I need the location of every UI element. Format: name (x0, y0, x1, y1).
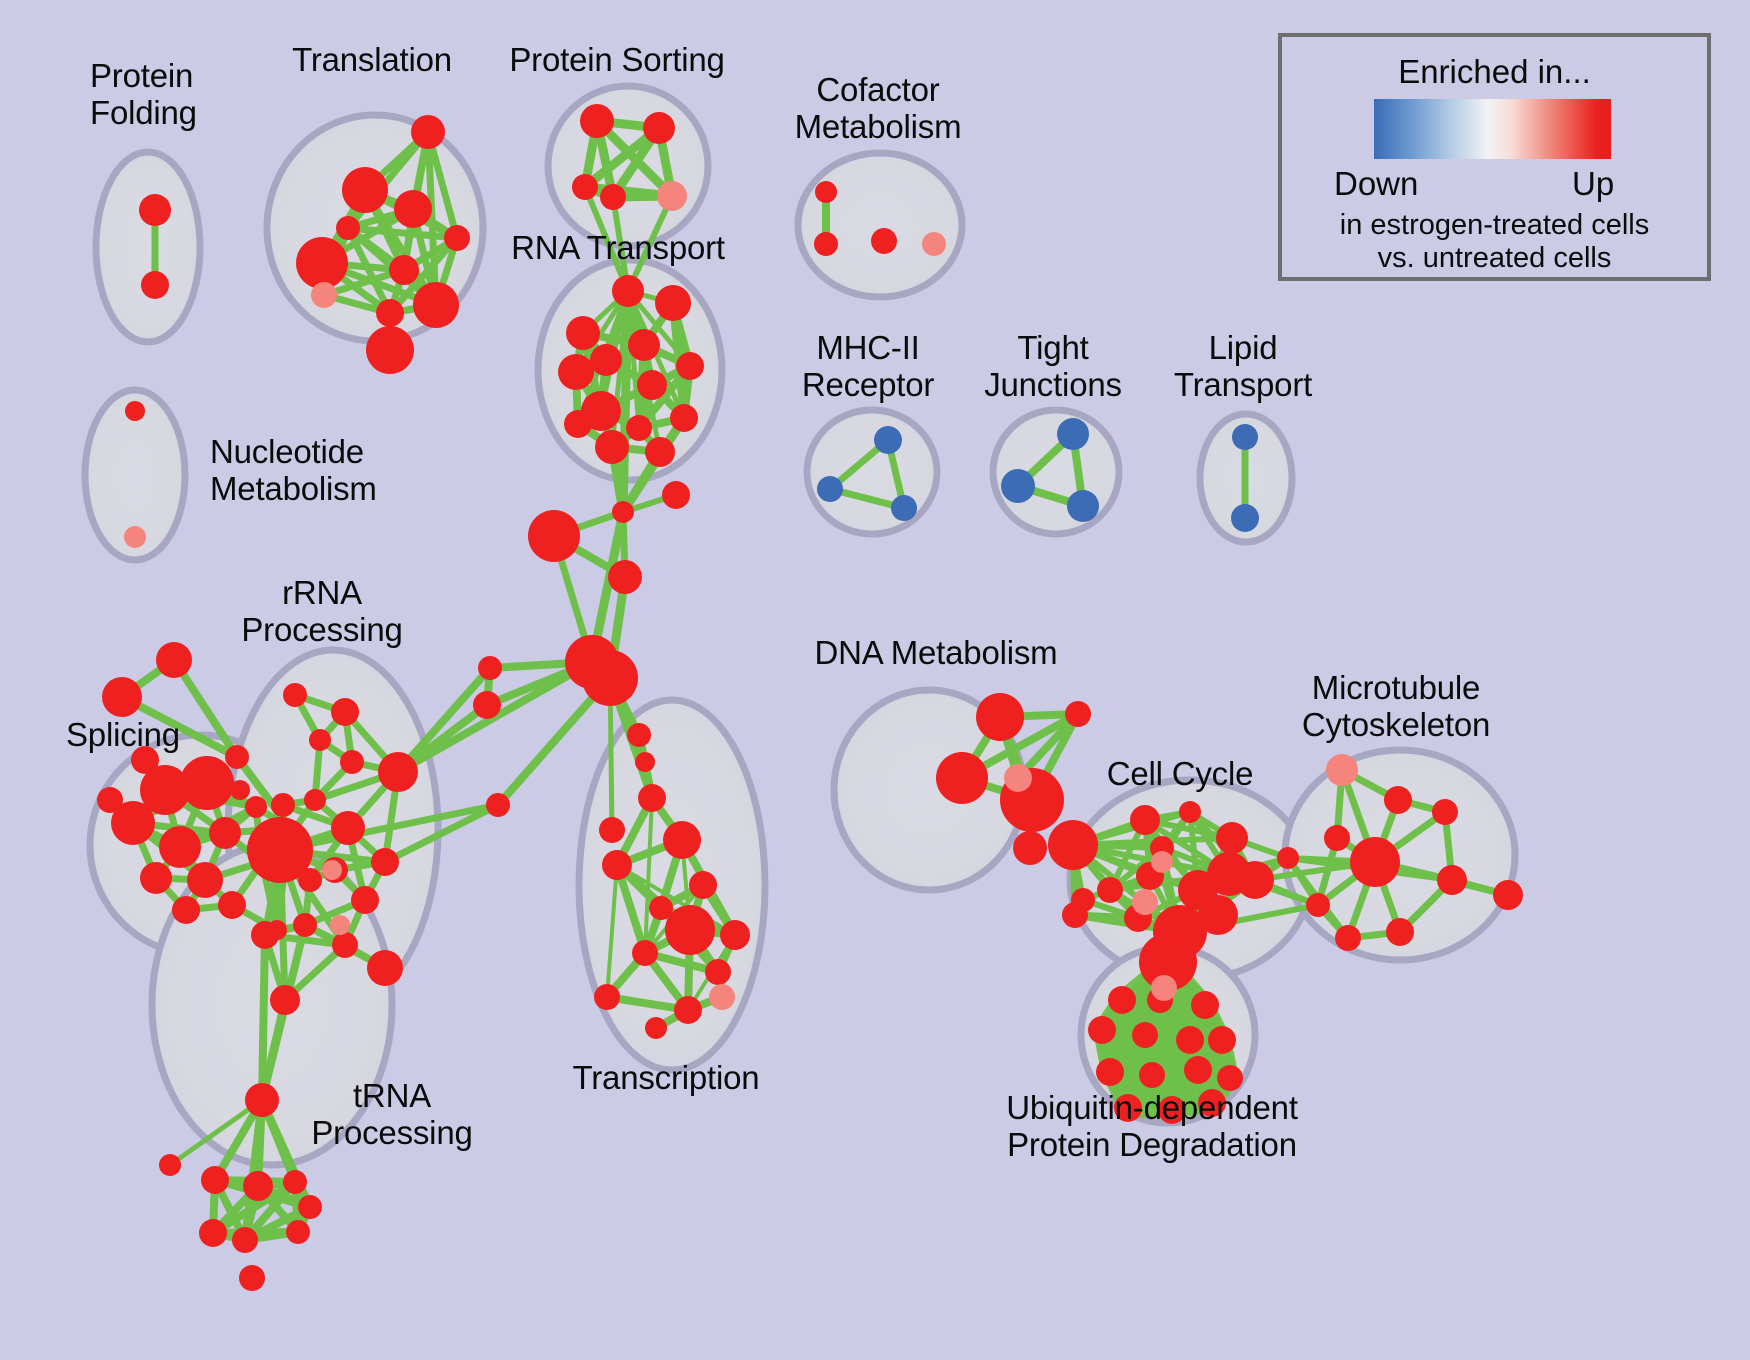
node (1097, 877, 1123, 903)
node (709, 984, 735, 1010)
legend-title: Enriched in... (1282, 53, 1707, 91)
node (340, 750, 364, 774)
node (371, 848, 399, 876)
cluster-label-protein-sorting: Protein Sorting (509, 42, 724, 79)
cluster-label-mhc-ii-receptor: MHC-II Receptor (802, 330, 934, 404)
node (478, 656, 502, 680)
node (674, 996, 702, 1024)
node (936, 752, 988, 804)
node (566, 316, 600, 350)
node (635, 752, 655, 772)
node (201, 1166, 229, 1194)
node (209, 817, 241, 849)
node (367, 950, 403, 986)
node (1067, 490, 1099, 522)
node (102, 677, 142, 717)
node (643, 112, 675, 144)
node (1306, 893, 1330, 917)
node (528, 510, 580, 562)
node (332, 932, 358, 958)
node (232, 1227, 258, 1253)
color-scale-bar (1374, 99, 1611, 159)
node (413, 282, 459, 328)
node (239, 1265, 265, 1291)
node (1132, 1022, 1158, 1048)
node (612, 501, 634, 523)
cluster-label-translation: Translation (292, 42, 452, 79)
node (1277, 847, 1299, 869)
node (645, 437, 675, 467)
cluster-label-transcription: Transcription (573, 1060, 760, 1097)
node (1179, 801, 1201, 823)
node (1191, 991, 1219, 1019)
legend-up-label: Up (1572, 165, 1614, 203)
node (267, 920, 287, 940)
node (218, 891, 246, 919)
node (172, 896, 200, 924)
legend-subtitle-line2: vs. untreated cells (1282, 242, 1707, 275)
node (1232, 424, 1258, 450)
node (1326, 754, 1358, 786)
node (871, 228, 897, 254)
node (322, 860, 342, 880)
node (156, 642, 192, 678)
node (676, 352, 704, 380)
node (271, 793, 295, 817)
node (140, 862, 172, 894)
node (1151, 851, 1173, 873)
node (311, 282, 337, 308)
node (720, 920, 750, 950)
node (814, 232, 838, 256)
node (1350, 837, 1400, 887)
node (330, 915, 350, 935)
node (243, 1171, 273, 1201)
node (815, 181, 837, 203)
node (564, 410, 592, 438)
node (1057, 418, 1089, 450)
node (376, 299, 404, 327)
node (1335, 925, 1361, 951)
node (304, 789, 326, 811)
node (1062, 902, 1088, 928)
cluster-label-cell-cycle: Cell Cycle (1107, 756, 1254, 793)
node (298, 1195, 322, 1219)
node (595, 430, 629, 464)
node (245, 1083, 279, 1117)
node (580, 104, 614, 138)
node (286, 1220, 310, 1244)
node (1217, 1065, 1243, 1091)
node (1198, 895, 1238, 935)
node (331, 698, 359, 726)
node (1013, 831, 1047, 865)
cluster-label-splicing: Splicing (66, 717, 180, 754)
node (657, 181, 687, 211)
node (1437, 865, 1467, 895)
cluster-label-rna-transport: RNA Transport (511, 230, 725, 267)
node (1324, 825, 1350, 851)
cluster-label-lipid-transport: Lipid Transport (1174, 330, 1312, 404)
node (199, 1219, 227, 1247)
node (600, 184, 626, 210)
node (689, 871, 717, 899)
node (1130, 805, 1160, 835)
node (558, 354, 594, 390)
node (444, 225, 470, 251)
node (141, 271, 169, 299)
node (590, 344, 622, 376)
node (187, 862, 223, 898)
node (638, 784, 666, 812)
node (1432, 799, 1458, 825)
node (247, 817, 313, 883)
node (1236, 861, 1274, 899)
node (628, 329, 660, 361)
cluster-label-microtubule-cytoskeleton: Microtubule Cytoskeleton (1302, 670, 1490, 744)
node (632, 940, 658, 966)
node (366, 326, 414, 374)
cluster-halo-mhc-ii-receptor (807, 410, 937, 534)
node (1176, 1026, 1204, 1054)
node (602, 850, 632, 880)
node (655, 285, 691, 321)
node (486, 793, 510, 817)
node (1151, 975, 1177, 1001)
enrichment-map-figure: Protein Folding Translation Protein Sort… (0, 0, 1750, 1360)
node (572, 174, 598, 200)
node (626, 415, 652, 441)
legend-subtitle-line1: in estrogen-treated cells (1282, 209, 1707, 242)
node (608, 560, 642, 594)
node (230, 780, 250, 800)
node (627, 723, 651, 747)
node (270, 985, 300, 1015)
cluster-label-nucleotide-metabolism: Nucleotide Metabolism (210, 434, 377, 508)
legend-down-label: Down (1334, 165, 1418, 203)
node (637, 370, 667, 400)
node (331, 811, 365, 845)
node (1108, 986, 1136, 1014)
cluster-label-tight-junctions: Tight Junctions (984, 330, 1122, 404)
cluster-label-trna-processing: tRNA Processing (311, 1078, 472, 1152)
node (389, 255, 419, 285)
legend-panel: Enriched in... Down Up in estrogen-treat… (1278, 33, 1711, 281)
node (891, 495, 917, 521)
node (180, 756, 234, 810)
node (662, 481, 690, 509)
node (1386, 918, 1414, 946)
node (705, 959, 731, 985)
node (159, 826, 201, 868)
node (1139, 1062, 1165, 1088)
node (1048, 820, 1098, 870)
node (1004, 764, 1032, 792)
node (612, 275, 644, 307)
cluster-label-protein-folding: Protein Folding (90, 58, 197, 132)
cluster-label-dna-metabolism: DNA Metabolism (815, 635, 1058, 672)
node (378, 752, 418, 792)
node (336, 216, 360, 240)
node (1384, 786, 1412, 814)
node (665, 905, 715, 955)
node (594, 984, 620, 1010)
cluster-label-rrna-processing: rRNA Processing (241, 575, 402, 649)
node (283, 1170, 307, 1194)
node (139, 194, 171, 226)
node (1088, 1016, 1116, 1044)
node (1493, 880, 1523, 910)
node (351, 886, 379, 914)
node (1096, 1058, 1124, 1086)
cluster-label-ubiquitin-protein-degradation: Ubiquitin-dependent Protein Degradation (1006, 1090, 1298, 1164)
node (293, 913, 317, 937)
node (97, 787, 123, 813)
node (922, 232, 946, 256)
node (394, 190, 432, 228)
node (1065, 701, 1091, 727)
node (309, 729, 331, 751)
node (296, 237, 348, 289)
node (663, 821, 701, 859)
node (874, 426, 902, 454)
node (1208, 1026, 1236, 1054)
node (124, 526, 146, 548)
node (342, 167, 388, 213)
node (411, 115, 445, 149)
node (283, 683, 307, 707)
node (976, 693, 1024, 741)
node (645, 1017, 667, 1039)
node (1132, 889, 1158, 915)
node (599, 817, 625, 843)
node (225, 745, 249, 769)
cluster-halo-protein-folding (96, 152, 200, 342)
node (1231, 504, 1259, 532)
node (1216, 822, 1248, 854)
node (473, 691, 501, 719)
node (582, 650, 638, 706)
node (1184, 1056, 1212, 1084)
node (159, 1154, 181, 1176)
node (125, 401, 145, 421)
node (670, 404, 698, 432)
node (817, 476, 843, 502)
cluster-label-cofactor-metabolism: Cofactor Metabolism (795, 72, 962, 146)
cluster-halo-protein-sorting (548, 86, 708, 246)
node (1001, 469, 1035, 503)
node (245, 796, 267, 818)
